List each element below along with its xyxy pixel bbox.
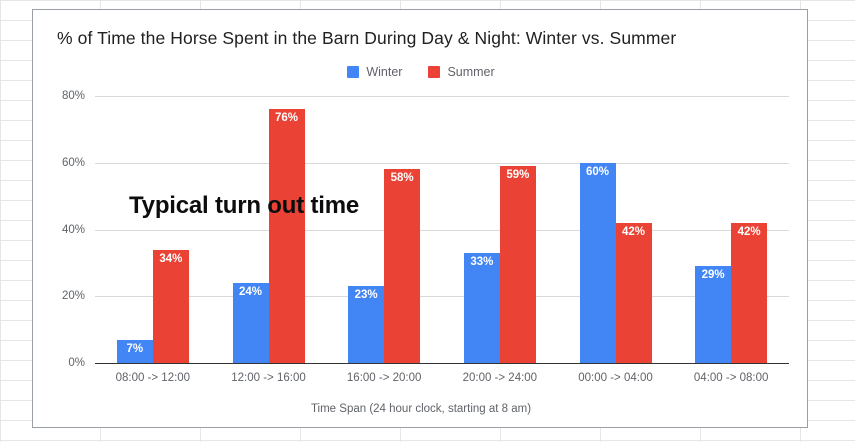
bar-winter-2[interactable]: 23% <box>348 286 384 363</box>
chart-container[interactable]: % of Time the Horse Spent in the Barn Du… <box>32 9 808 428</box>
bar-data-label: 60% <box>580 166 616 179</box>
bar-data-label: 42% <box>731 226 767 239</box>
bar-winter-5[interactable]: 29% <box>695 266 731 363</box>
x-axis-tick-label: 08:00 -> 12:00 <box>116 372 191 384</box>
bar-winter-4[interactable]: 60% <box>580 163 616 363</box>
screenshot-stage: % of Time the Horse Spent in the Barn Du… <box>0 0 855 442</box>
y-axis-tick-label: 60% <box>33 157 85 169</box>
x-axis-tick-label: 12:00 -> 16:00 <box>231 372 306 384</box>
bar-winter-0[interactable]: 7% <box>117 340 153 363</box>
x-axis-tick-label: 00:00 -> 04:00 <box>578 372 653 384</box>
gridline <box>95 230 789 231</box>
x-axis-tick-label: 20:00 -> 24:00 <box>463 372 538 384</box>
bar-summer-3[interactable]: 59% <box>500 166 536 363</box>
bar-data-label: 24% <box>233 286 269 299</box>
bar-data-label: 34% <box>153 253 189 266</box>
bar-summer-2[interactable]: 58% <box>384 169 420 363</box>
spreadsheet-row-line <box>0 440 855 441</box>
spreadsheet-row-line <box>0 0 855 1</box>
y-axis-tick-label: 0% <box>33 357 85 369</box>
gridline <box>95 96 789 97</box>
bar-data-label: 33% <box>464 256 500 269</box>
bar-data-label: 42% <box>616 226 652 239</box>
bar-data-label: 29% <box>695 269 731 282</box>
y-axis-tick-label: 20% <box>33 290 85 302</box>
gridline <box>95 296 789 297</box>
chart-annotation-turnout: Typical turn out time <box>129 192 359 220</box>
gridline <box>95 163 789 164</box>
axis-line-x <box>95 363 789 364</box>
bar-summer-5[interactable]: 42% <box>731 223 767 363</box>
bar-summer-1[interactable]: 76% <box>269 109 305 363</box>
spreadsheet-column-line <box>0 0 1 442</box>
bar-summer-0[interactable]: 34% <box>153 250 189 363</box>
x-axis-title: Time Span (24 hour clock, starting at 8 … <box>33 403 809 415</box>
bar-winter-1[interactable]: 24% <box>233 283 269 363</box>
x-axis-tick-label: 04:00 -> 08:00 <box>694 372 769 384</box>
bar-summer-4[interactable]: 42% <box>616 223 652 363</box>
y-axis-tick-label: 80% <box>33 90 85 102</box>
x-axis-tick-label: 16:00 -> 20:00 <box>347 372 422 384</box>
bar-data-label: 23% <box>348 289 384 302</box>
y-axis-tick-label: 40% <box>33 224 85 236</box>
bar-data-label: 7% <box>117 343 153 356</box>
bar-data-label: 76% <box>269 112 305 125</box>
bar-data-label: 58% <box>384 172 420 185</box>
bar-winter-3[interactable]: 33% <box>464 253 500 363</box>
bar-data-label: 59% <box>500 169 536 182</box>
